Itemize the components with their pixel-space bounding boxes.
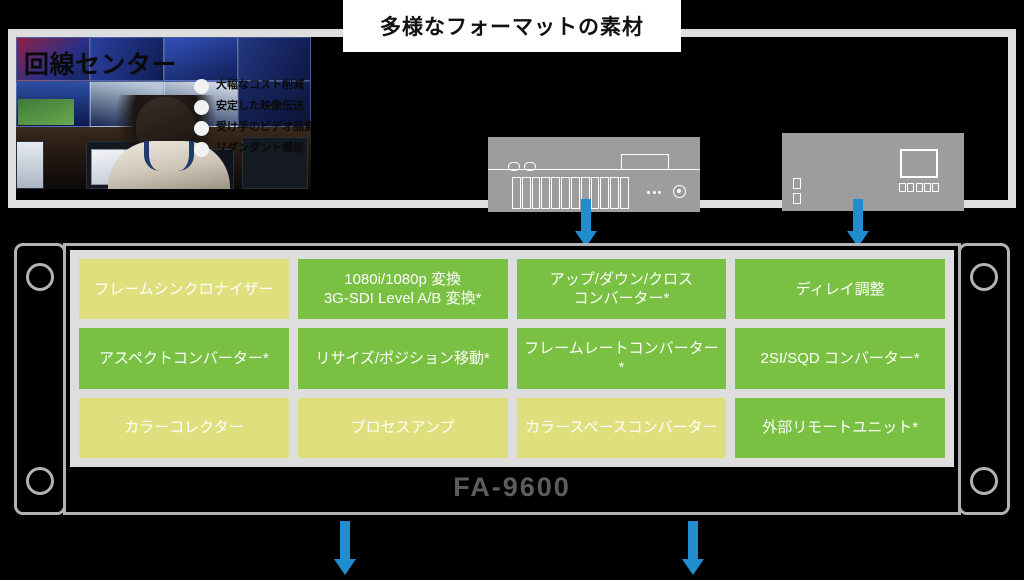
operator-lanyard [144,141,194,171]
feature-cell-process-amp[interactable]: プロセスアンプ [298,398,508,458]
control-room-thumbnail: 回線センター 大幅なコスト削減 安定した映像伝送 受け手のビデオ品質 リダンダン… [16,37,311,189]
thumbnail-bullet-list: 大幅なコスト削減 安定した映像伝送 受け手のビデオ品質 リダンダント機能 [192,75,311,159]
rack-ear-left [14,243,66,515]
device-display-icon [900,149,938,178]
sources-panel: 回線センター 大幅なコスト削減 安定した映像伝送 受け手のビデオ品質 リダンダン… [8,29,1016,208]
wall-tile-green [18,99,74,125]
feature-cell-delay-adjustment[interactable]: ディレイ調整 [735,259,945,319]
feature-grid: フレームシンクロナイザー 1080i/1080p 変換 3G-SDI Level… [79,259,945,458]
device-display-icon [621,154,669,170]
desk-monitor [16,141,44,189]
feature-cell-up-down-cross-converter[interactable]: アップ/ダウン/クロス コンバーター* [517,259,727,319]
feature-cell-frame-rate-converter[interactable]: フレームレートコンバーター* [517,328,727,388]
down-arrow-output-left-icon [334,521,356,580]
bullet-label: 受け手のビデオ品質 [216,121,311,133]
feature-cell-external-remote-unit[interactable]: 外部リモートユニット* [735,398,945,458]
device-drive-bays [512,177,629,209]
rack-mount-hole-icon [26,263,54,291]
down-arrow-from-processor-icon [847,199,869,247]
feature-cell-color-corrector[interactable]: カラーコレクター [79,398,289,458]
feature-cell-color-space-converter[interactable]: カラースペースコンバーター [517,398,727,458]
down-arrow-output-right-icon [682,521,704,580]
thumbnail-title: 回線センター [24,45,177,81]
list-item: 安定した映像伝送 [192,96,311,117]
list-item: リダンダント機能 [192,138,311,159]
list-item: 受け手のビデオ品質 [192,117,311,138]
rack-mount-hole-icon [970,263,998,291]
fa-9600-rack-unit: フレームシンクロナイザー 1080i/1080p 変換 3G-SDI Level… [14,243,1010,515]
feature-cell-1080i-1080p-conversion[interactable]: 1080i/1080p 変換 3G-SDI Level A/B 変換* [298,259,508,319]
page-title: 多様なフォーマットの素材 [380,11,644,41]
feature-cell-resize-position[interactable]: リサイズ/ポジション移動* [298,328,508,388]
bullet-dot-icon [194,121,209,136]
bullet-label: 安定した映像伝送 [216,100,304,112]
device-port-group-icon [793,178,801,206]
diagram-stage: 回線センター 大幅なコスト削減 安定した映像伝送 受け手のビデオ品質 リダンダン… [0,0,1024,580]
down-arrow-from-server-icon [575,199,597,247]
rack-body: フレームシンクロナイザー 1080i/1080p 変換 3G-SDI Level… [63,243,961,515]
bullet-dot-icon [194,100,209,115]
bullet-dot-icon [194,79,209,94]
feature-cell-2si-sqd-converter[interactable]: 2SI/SQD コンバーター* [735,328,945,388]
feature-cell-frame-synchronizer[interactable]: フレームシンクロナイザー [79,259,289,319]
feature-cell-aspect-converter[interactable]: アスペクトコンバーター* [79,328,289,388]
rack-ear-right [958,243,1010,515]
rack-mount-hole-icon [26,467,54,495]
feature-grid-panel: フレームシンクロナイザー 1080i/1080p 変換 3G-SDI Level… [70,250,954,467]
device-button-row [899,183,939,192]
rack-mount-hole-icon [970,467,998,495]
device-power-button-icon [673,185,686,198]
list-item: 大幅なコスト削減 [192,75,311,96]
bullet-label: 大幅なコスト削減 [216,79,304,91]
model-name-label: FA-9600 [66,472,958,503]
page-title-banner: 多様なフォーマットの素材 [343,0,681,52]
device-led-group-icon [647,191,661,195]
bullet-dot-icon [194,142,209,157]
device-indicator-pair-icon [508,162,538,171]
video-processor-device [782,133,964,211]
bullet-label: リダンダント機能 [216,142,304,154]
